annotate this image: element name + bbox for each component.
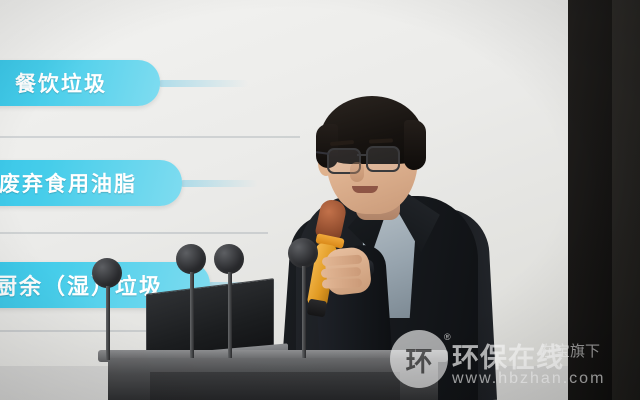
- watermark-tagline: 在宝旗下: [540, 340, 600, 361]
- speaker-finger: [322, 278, 362, 288]
- watermark-url: www.hbzhan.com: [452, 370, 605, 388]
- mic-neck: [228, 272, 232, 358]
- mic-capsule: [288, 238, 318, 268]
- mic-capsule: [92, 258, 122, 288]
- registered-mark-icon: ®: [444, 332, 451, 342]
- watermark: 环 ® 环保在线 在宝旗下 www.hbzhan.com: [390, 330, 636, 396]
- slide-divider: [0, 136, 300, 138]
- eyeglasses-bridge: [357, 154, 367, 156]
- slide-callout-label: 废弃食用油脂: [0, 168, 137, 198]
- speaker-nose: [350, 162, 364, 182]
- slide-connector: [158, 80, 248, 87]
- slide-callout-1: 餐饮垃圾: [0, 60, 160, 106]
- podium-front-panel: [150, 372, 400, 400]
- slide-callout-label: 餐饮垃圾: [15, 68, 107, 98]
- slide-callout-label: 厨余（湿）垃圾: [0, 269, 163, 301]
- speaker-hair-side-right: [404, 120, 426, 170]
- eyeglasses-right-lens: [366, 146, 400, 172]
- mic-neck: [190, 272, 194, 358]
- slide-callout-2: 废弃食用油脂: [0, 160, 182, 206]
- mic-capsule: [214, 244, 244, 274]
- microphone-base: [307, 299, 328, 318]
- watermark-logo-glyph: 环: [406, 340, 433, 379]
- mic-capsule: [176, 244, 206, 274]
- watermark-logo-icon: 环: [390, 330, 448, 388]
- photo-scene: 餐饮垃圾 废弃食用油脂 厨余（湿）垃圾: [0, 0, 640, 400]
- mic-neck: [302, 266, 306, 358]
- slide-connector: [180, 180, 258, 187]
- slide-divider: [0, 330, 150, 332]
- speaker-mouth: [352, 186, 378, 193]
- slide-divider: [0, 232, 268, 234]
- mic-neck: [106, 286, 110, 360]
